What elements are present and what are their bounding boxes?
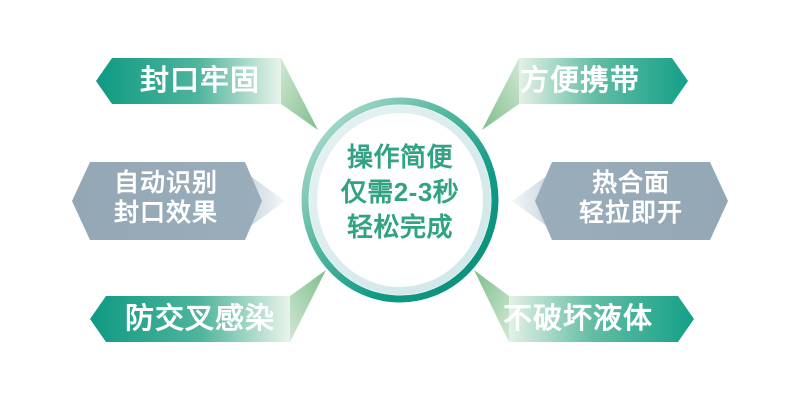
banner-middle-right-shape[interactable] [535,162,728,240]
diagram-canvas: 封口牢固 方便携带 自动识别封口效果 热合面轻拉即开 防交叉感染 不破坏液体 操… [0,0,800,400]
banner-bottom-right-tail [474,270,509,342]
banner-top-right-shape[interactable] [519,58,688,104]
center-circle-text: 操作简便 仅需2-3秒 轻松完成 [306,140,494,245]
node-top-right-group[interactable] [482,58,688,130]
node-top-left-group[interactable] [96,58,318,130]
node-middle-right-group[interactable] [512,162,728,240]
node-bottom-left-group[interactable] [90,270,326,342]
banner-top-left-shape[interactable] [96,58,281,104]
banner-bottom-left-shape[interactable] [90,296,290,342]
banner-bottom-left-tail [290,270,326,342]
node-bottom-right-group[interactable] [474,270,694,342]
banner-bottom-right-shape[interactable] [509,296,694,342]
banner-top-right-tail [482,58,519,130]
node-middle-left-group[interactable] [72,162,285,240]
banner-top-left-tail [281,58,318,130]
banner-middle-left-shape[interactable] [72,162,262,240]
